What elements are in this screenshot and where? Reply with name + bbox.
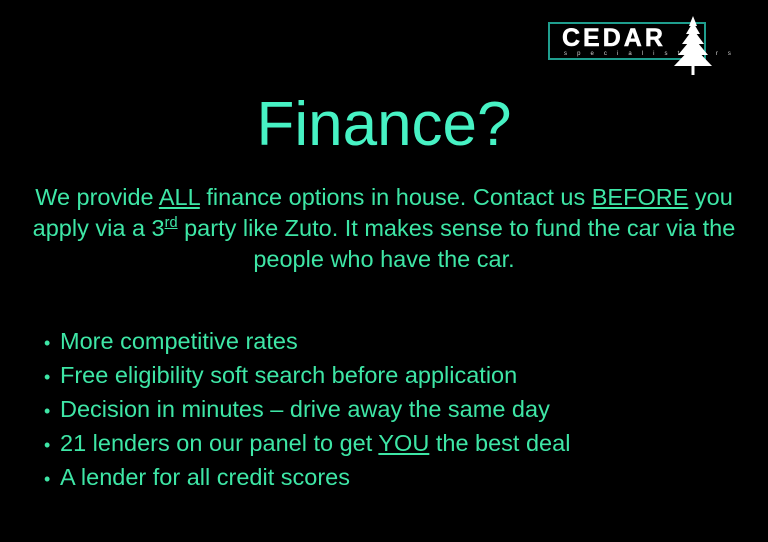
list-item-emphasis-you: YOU: [378, 430, 429, 456]
benefits-list: • More competitive rates • Free eligibil…: [44, 324, 744, 494]
intro-part2: finance options in house. Contact us: [200, 184, 592, 210]
list-item-pre: 21 lenders on our panel to get: [60, 430, 378, 456]
bullet-icon: •: [44, 326, 60, 360]
bullet-icon: •: [44, 394, 60, 428]
bullet-icon: •: [44, 428, 60, 462]
list-item-label: A lender for all credit scores: [60, 460, 350, 494]
company-logo: CEDAR s p e c i a l i s t c a r s: [545, 14, 735, 72]
intro-emphasis-all: ALL: [159, 184, 200, 210]
intro-emphasis-before: BEFORE: [592, 184, 689, 210]
list-item: • More competitive rates: [44, 324, 744, 358]
logo-wordmark: CEDAR: [562, 26, 666, 51]
list-item-label: Decision in minutes – drive away the sam…: [60, 392, 550, 426]
list-item: • 21 lenders on our panel to get YOU the…: [44, 426, 744, 460]
intro-ordinal-suffix: rd: [165, 215, 178, 231]
list-item: • A lender for all credit scores: [44, 460, 744, 494]
bullet-icon: •: [44, 360, 60, 394]
list-item-post: the best deal: [429, 430, 570, 456]
list-item: • Decision in minutes – drive away the s…: [44, 392, 744, 426]
list-item-label: Free eligibility soft search before appl…: [60, 358, 517, 392]
list-item-label: More competitive rates: [60, 324, 298, 358]
cedar-tree-icon: [663, 14, 723, 76]
page-title: Finance?: [0, 92, 768, 158]
bullet-icon: •: [44, 462, 60, 496]
intro-part1: We provide: [35, 184, 159, 210]
list-item: • Free eligibility soft search before ap…: [44, 358, 744, 392]
intro-part4: party like Zuto. It makes sense to fund …: [178, 215, 736, 272]
presentation-slide: CEDAR s p e c i a l i s t c a r s Financ…: [0, 0, 768, 542]
intro-paragraph: We provide ALL finance options in house.…: [24, 182, 744, 275]
list-item-label: 21 lenders on our panel to get YOU the b…: [60, 426, 570, 460]
